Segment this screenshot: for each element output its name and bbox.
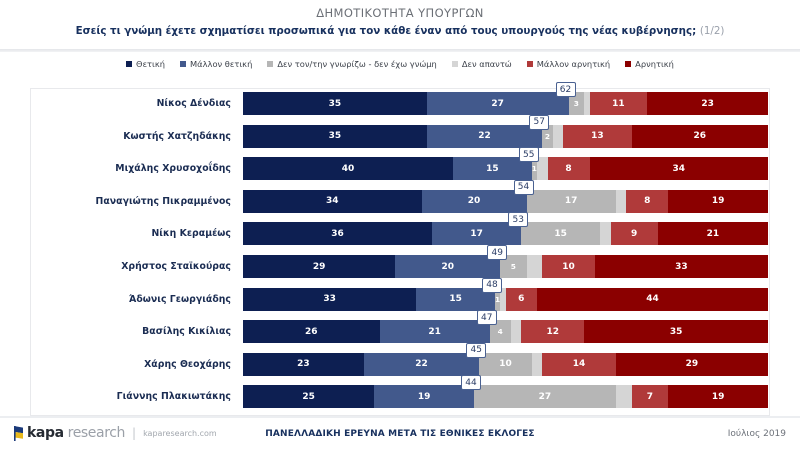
row-label-3: Μιχάλης Χρυσοχοΐδης xyxy=(0,157,238,180)
positive-total-callout: 45 xyxy=(466,343,486,358)
stacked-bar: 352731123 xyxy=(243,92,768,115)
stacked-bar: 251927719 xyxy=(243,385,768,408)
bar-segment-positive: 25 xyxy=(243,385,374,408)
legend-swatch-icon xyxy=(126,61,132,67)
stacked-bar: 262141235 xyxy=(243,320,768,343)
bar-segment-rather_negative: 12 xyxy=(521,320,584,343)
bar-segment-rather_positive: 27 xyxy=(427,92,569,115)
bar-segment-dont_know: 17 xyxy=(527,190,616,213)
bar-segment-dont_know: 27 xyxy=(474,385,616,408)
positive-total-callout: 57 xyxy=(529,115,549,130)
bar-segment-positive: 40 xyxy=(243,157,453,180)
bar-segment-positive: 36 xyxy=(243,222,432,245)
stacked-bar: 2322101429 xyxy=(243,353,768,376)
bar-segment-no_answer xyxy=(600,222,611,245)
legend-swatch-icon xyxy=(180,61,186,67)
bar-segment-positive: 34 xyxy=(243,190,422,213)
legend-label: Δεν τον/την γνωρίζω - δεν έχω γνώμη xyxy=(277,59,436,69)
chart-row: Βασίλης Κικίλιας262141235 xyxy=(0,320,800,343)
bar-segment-positive: 35 xyxy=(243,92,427,115)
bar-segment-rather_negative: 11 xyxy=(590,92,648,115)
row-label-10: Γιάννης Πλακιωτάκης xyxy=(0,385,238,408)
row-label-7: Άδωνις Γεωργιάδης xyxy=(0,288,238,311)
row-label-4: Παναγιώτης Πικραμμένος xyxy=(0,190,238,213)
bar-segment-negative: 21 xyxy=(658,222,768,245)
legend-item-negative[interactable]: Αρνητική xyxy=(625,59,674,69)
chart-footer: kapa research | kaparesearch.com ΠΑΝΕΛΛΑ… xyxy=(0,416,800,457)
bar-segment-positive: 29 xyxy=(243,255,395,278)
bar-segment-rather_negative: 6 xyxy=(506,288,538,311)
page-subtitle: Εσείς τι γνώμη έχετε σχηματίσει προσωπικ… xyxy=(0,24,800,38)
bar-segment-rather_negative: 13 xyxy=(563,125,631,148)
bar-segment-no_answer xyxy=(616,190,627,213)
bar-segment-negative: 35 xyxy=(584,320,768,343)
legend-item-positive[interactable]: Θετική xyxy=(126,59,165,69)
bar-segment-negative: 34 xyxy=(590,157,769,180)
chart-row: Μιχάλης Χρυσοχοΐδης40151834 xyxy=(0,157,800,180)
stacked-bar: 40151834 xyxy=(243,157,768,180)
legend-label: Μάλλον θετική xyxy=(190,59,252,69)
bar-segment-rather_positive: 19 xyxy=(374,385,474,408)
chart-row: Χρήστος Σταϊκούρας292051033 xyxy=(0,255,800,278)
legend-swatch-icon xyxy=(625,61,631,67)
bar-segment-no_answer xyxy=(553,125,564,148)
header-divider xyxy=(0,49,800,52)
subtitle-text: Εσείς τι γνώμη έχετε σχηματίσει προσωπικ… xyxy=(76,25,697,37)
chart-row: Κωστής Χατζηδάκης352221326 xyxy=(0,125,800,148)
bar-segment-rather_negative: 9 xyxy=(611,222,658,245)
row-label-1: Νίκος Δένδιας xyxy=(0,92,238,115)
legend-item-rather_negative[interactable]: Μάλλον αρνητική xyxy=(527,59,610,69)
page-indicator: (1/2) xyxy=(700,25,725,37)
footer-survey-title: ΠΑΝΕΛΛΑΔΙΚΗ ΕΡΕΥΝΑ ΜΕΤΑ ΤΙΣ ΕΘΝΙΚΕΣ ΕΚΛΟ… xyxy=(0,429,800,439)
bar-segment-rather_negative: 8 xyxy=(626,190,668,213)
bar-segment-negative: 44 xyxy=(537,288,768,311)
chart-row: Νίκος Δένδιας352731123 xyxy=(0,92,800,115)
bar-segment-negative: 26 xyxy=(632,125,769,148)
legend-label: Μάλλον αρνητική xyxy=(537,59,610,69)
chart-rows: Νίκος Δένδιας35273112362Κωστής Χατζηδάκη… xyxy=(0,88,800,416)
footer-date: Ιούλιος 2019 xyxy=(728,429,786,439)
legend-swatch-icon xyxy=(452,61,458,67)
chart-row: Άδωνις Γεωργιάδης33151644 xyxy=(0,288,800,311)
row-label-8: Βασίλης Κικίλιας xyxy=(0,320,238,343)
row-label-5: Νίκη Κεραμέως xyxy=(0,222,238,245)
positive-total-callout: 55 xyxy=(519,147,539,162)
chart-header: ΔΗΜΟΤΙΚΟΤΗΤΑ ΥΠΟΥΡΓΩΝ Εσείς τι γνώμη έχε… xyxy=(0,0,800,52)
chart-row: Χάρης Θεοχάρης2322101429 xyxy=(0,353,800,376)
bar-segment-no_answer xyxy=(527,255,543,278)
positive-total-callout: 62 xyxy=(556,82,576,97)
bar-segment-negative: 33 xyxy=(595,255,768,278)
poll-chart-page: ΔΗΜΟΤΙΚΟΤΗΤΑ ΥΠΟΥΡΓΩΝ Εσείς τι γνώμη έχε… xyxy=(0,0,800,457)
bar-segment-positive: 33 xyxy=(243,288,416,311)
row-label-9: Χάρης Θεοχάρης xyxy=(0,353,238,376)
legend-label: Θετική xyxy=(136,59,165,69)
bar-segment-rather_negative: 8 xyxy=(548,157,590,180)
bar-segment-rather_positive: 20 xyxy=(422,190,527,213)
bar-segment-rather_negative: 14 xyxy=(542,353,616,376)
chart-row: Παναγιώτης Πικραμμένος342017819 xyxy=(0,190,800,213)
legend-swatch-icon xyxy=(267,61,273,67)
bar-segment-dont_know: 15 xyxy=(521,222,600,245)
bar-segment-rather_negative: 10 xyxy=(542,255,595,278)
bar-segment-rather_positive: 21 xyxy=(380,320,490,343)
bar-segment-rather_positive: 20 xyxy=(395,255,500,278)
positive-total-callout: 53 xyxy=(508,212,528,227)
bar-segment-positive: 26 xyxy=(243,320,380,343)
positive-total-callout: 47 xyxy=(477,310,497,325)
bar-segment-rather_positive: 22 xyxy=(364,353,480,376)
row-label-6: Χρήστος Σταϊκούρας xyxy=(0,255,238,278)
legend-label: Αρνητική xyxy=(635,59,674,69)
bar-segment-negative: 19 xyxy=(668,385,768,408)
bar-segment-no_answer xyxy=(616,385,632,408)
bar-segment-dont_know: 10 xyxy=(479,353,532,376)
chart-row: Νίκη Κεραμέως361715921 xyxy=(0,222,800,245)
bar-segment-negative: 23 xyxy=(647,92,768,115)
legend-item-no_answer[interactable]: Δεν απαντώ xyxy=(452,59,512,69)
bar-segment-no_answer xyxy=(511,320,522,343)
chart-legend: ΘετικήΜάλλον θετικήΔεν τον/την γνωρίζω -… xyxy=(0,54,800,74)
legend-item-dont_know[interactable]: Δεν τον/την γνωρίζω - δεν έχω γνώμη xyxy=(267,59,436,69)
chart-row: Γιάννης Πλακιωτάκης251927719 xyxy=(0,385,800,408)
bar-segment-rather_positive: 22 xyxy=(427,125,543,148)
bar-segment-positive: 23 xyxy=(243,353,364,376)
legend-label: Δεν απαντώ xyxy=(462,59,512,69)
bar-segment-no_answer xyxy=(532,353,543,376)
legend-swatch-icon xyxy=(527,61,533,67)
positive-total-callout: 48 xyxy=(482,278,502,293)
bar-segment-negative: 19 xyxy=(668,190,768,213)
bar-segment-positive: 35 xyxy=(243,125,427,148)
stacked-bar: 361715921 xyxy=(243,222,768,245)
positive-total-callout: 44 xyxy=(461,375,481,390)
stacked-bar: 342017819 xyxy=(243,190,768,213)
legend-item-rather_positive[interactable]: Μάλλον θετική xyxy=(180,59,252,69)
page-title: ΔΗΜΟΤΙΚΟΤΗΤΑ ΥΠΟΥΡΓΩΝ xyxy=(0,5,800,21)
stacked-bar: 33151644 xyxy=(243,288,768,311)
row-label-2: Κωστής Χατζηδάκης xyxy=(0,125,238,148)
positive-total-callout: 49 xyxy=(487,245,507,260)
bar-segment-negative: 29 xyxy=(616,353,768,376)
chart-area: Νίκος Δένδιας35273112362Κωστής Χατζηδάκη… xyxy=(0,88,800,416)
footer-divider xyxy=(0,416,800,418)
positive-total-callout: 54 xyxy=(514,180,534,195)
bar-segment-rather_negative: 7 xyxy=(632,385,669,408)
stacked-bar: 352221326 xyxy=(243,125,768,148)
